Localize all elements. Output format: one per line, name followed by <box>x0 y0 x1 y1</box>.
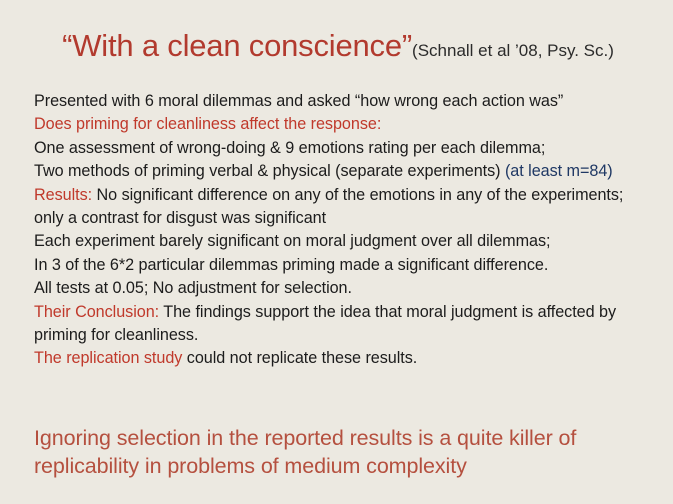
slide-title-quoted: “With a clean conscience” <box>62 28 412 63</box>
body-line-priming-cleanliness-segment-1: priming for cleanliness. <box>34 326 198 344</box>
body-line-results-segment-1: Results: <box>34 186 92 204</box>
body-line-each-experiment: Each experiment barely significant on mo… <box>34 230 659 253</box>
slide-body: Presented with 6 moral dilemmas and aske… <box>34 90 659 371</box>
body-line-contrast: only a contrast for disgust was signific… <box>34 207 659 230</box>
footer-line-1: Ignoring selection in the reported resul… <box>34 424 644 452</box>
body-line-methods: Two methods of priming verbal & physical… <box>34 160 659 183</box>
body-line-assessment-segment-1: One assessment of wrong-doing & 9 emotio… <box>34 139 545 157</box>
slide-title: “With a clean conscience”(Schnall et al … <box>30 29 646 64</box>
slide-title-citation: (Schnall et al ’08, Psy. Sc.) <box>412 41 614 60</box>
body-line-replication-segment-2: could not replicate these results. <box>182 349 417 367</box>
body-line-methods-segment-2: (at least m=84) <box>505 162 613 180</box>
body-line-presented-segment-1: Presented with 6 moral dilemmas and aske… <box>34 92 563 110</box>
body-line-their-conclusion: Their Conclusion: The findings support t… <box>34 301 659 324</box>
body-line-methods-segment-1: Two methods of priming verbal & physical… <box>34 162 505 180</box>
body-line-in-three-segment-1: In 3 of the 6*2 particular dilemmas prim… <box>34 256 548 274</box>
body-line-question: Does priming for cleanliness affect the … <box>34 113 659 136</box>
body-line-contrast-segment-1: only a contrast for disgust was signific… <box>34 209 326 227</box>
body-line-presented: Presented with 6 moral dilemmas and aske… <box>34 90 659 113</box>
body-line-all-tests-segment-1: All tests at 0.05; No adjustment for sel… <box>34 279 352 297</box>
slide-canvas: “With a clean conscience”(Schnall et al … <box>0 0 673 504</box>
body-line-replication-segment-1: The replication study <box>34 349 182 367</box>
body-line-in-three: In 3 of the 6*2 particular dilemmas prim… <box>34 254 659 277</box>
body-line-results-segment-2: No significant difference on any of the … <box>92 186 623 204</box>
footer-line-2: replicability in problems of medium comp… <box>34 452 644 480</box>
body-line-assessment: One assessment of wrong-doing & 9 emotio… <box>34 137 659 160</box>
slide-footer: Ignoring selection in the reported resul… <box>34 424 644 480</box>
body-line-each-experiment-segment-1: Each experiment barely significant on mo… <box>34 232 551 250</box>
body-line-their-conclusion-segment-1: Their Conclusion: <box>34 303 159 321</box>
body-line-priming-cleanliness: priming for cleanliness. <box>34 324 659 347</box>
body-line-all-tests: All tests at 0.05; No adjustment for sel… <box>34 277 659 300</box>
body-line-their-conclusion-segment-2: The findings support the idea that moral… <box>159 303 616 321</box>
body-line-question-segment-1: Does priming for cleanliness affect the … <box>34 115 381 133</box>
body-line-results: Results: No significant difference on an… <box>34 184 659 207</box>
body-line-replication: The replication study could not replicat… <box>34 347 659 370</box>
